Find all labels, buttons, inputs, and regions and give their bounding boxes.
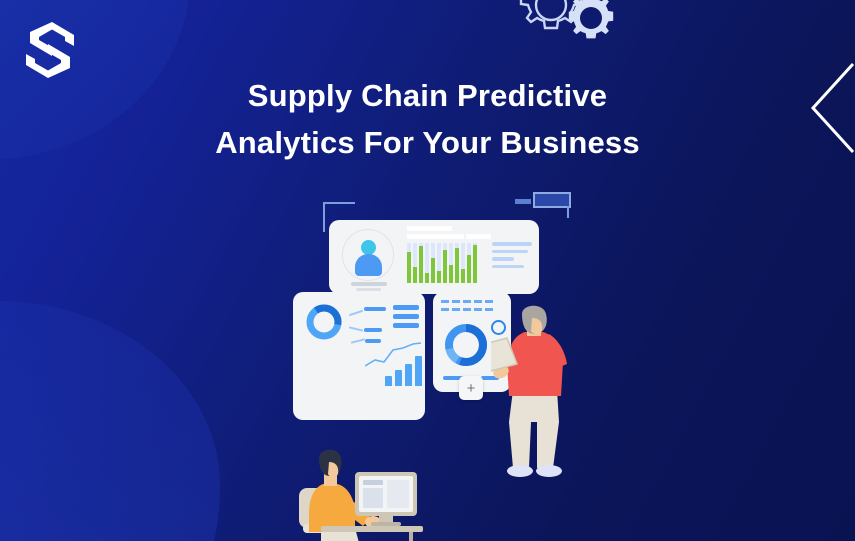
hero-banner: Supply Chain Predictive Analytics For Yo… bbox=[0, 0, 855, 541]
profile-metrics-card[interactable] bbox=[329, 220, 539, 294]
card-header-bar-2 bbox=[407, 234, 464, 239]
avatar-subcaption-line bbox=[356, 288, 381, 291]
donut-chart-left bbox=[304, 302, 344, 342]
tag-dash bbox=[515, 199, 531, 204]
metrics-bar bbox=[425, 243, 429, 283]
metrics-bar bbox=[473, 243, 477, 283]
gear-solid-icon bbox=[565, 0, 617, 44]
standing-presenter bbox=[491, 302, 583, 479]
bar bbox=[395, 370, 402, 387]
dashed-row-2 bbox=[441, 308, 493, 311]
card-header-bar-1 bbox=[407, 226, 452, 231]
card-text-lines bbox=[492, 242, 532, 272]
metrics-bar-chart bbox=[407, 243, 485, 283]
page-title-line-1: Supply Chain Predictive bbox=[0, 72, 855, 119]
user-avatar-icon bbox=[361, 240, 376, 255]
page-title-line-2: Analytics For Your Business bbox=[0, 119, 855, 166]
bar bbox=[415, 356, 422, 386]
card-header-bar-3 bbox=[466, 234, 491, 239]
tag-stem bbox=[567, 206, 569, 218]
donut-chart-right bbox=[441, 320, 491, 370]
metrics-bar bbox=[443, 243, 447, 283]
supply-chain-analytics-illustration: + bbox=[283, 184, 583, 479]
avatar-caption-line bbox=[351, 282, 387, 286]
bar bbox=[405, 364, 412, 386]
add-button[interactable]: + bbox=[459, 376, 483, 400]
tag-box bbox=[533, 192, 571, 208]
metrics-bar bbox=[455, 243, 459, 283]
tag-marker bbox=[515, 192, 573, 210]
workstation-dashboard-card[interactable] bbox=[293, 292, 425, 420]
page-title: Supply Chain Predictive Analytics For Yo… bbox=[0, 72, 855, 166]
dashed-row-1 bbox=[441, 300, 493, 303]
metrics-bar bbox=[467, 243, 471, 283]
background-blob-bottom-left bbox=[0, 301, 220, 541]
gears-decoration bbox=[503, 0, 633, 58]
metrics-bar bbox=[407, 243, 411, 283]
metrics-bar bbox=[437, 243, 441, 283]
metrics-bar bbox=[419, 243, 423, 283]
metrics-bar bbox=[449, 243, 453, 283]
bar bbox=[385, 376, 392, 386]
menu-rows-icon bbox=[393, 305, 419, 332]
avatar-body bbox=[355, 254, 382, 276]
bar-chart-left bbox=[385, 356, 422, 386]
metrics-bar bbox=[461, 243, 465, 283]
metrics-bar bbox=[413, 243, 417, 283]
seated-analyst bbox=[293, 442, 423, 541]
metrics-bar bbox=[431, 243, 435, 283]
